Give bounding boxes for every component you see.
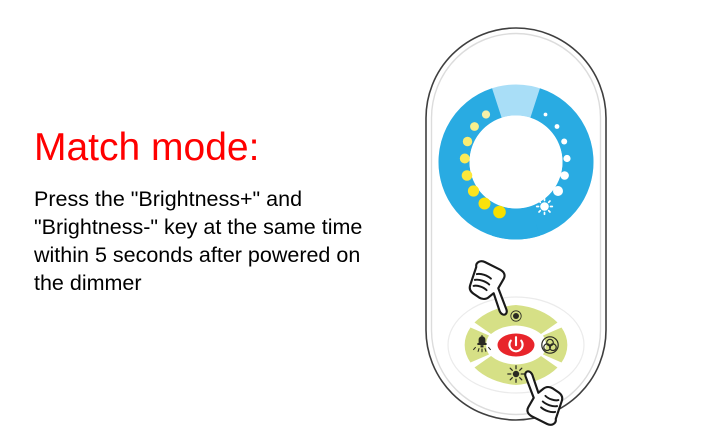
page-title: Match mode: — [34, 125, 404, 171]
device-illustration — [418, 22, 614, 426]
power-button[interactable] — [498, 334, 535, 357]
control-pad[interactable] — [448, 297, 584, 393]
ring-inner-hole — [470, 116, 563, 209]
instruction-body: Press the "Brightness+" and "Brightness-… — [34, 185, 404, 297]
slide-canvas: Match mode: Press the "Brightness+" and … — [0, 0, 707, 444]
instruction-panel: Match mode: Press the "Brightness+" and … — [34, 125, 404, 297]
bright-sun-icon — [508, 366, 524, 382]
sun-icon — [537, 199, 553, 215]
